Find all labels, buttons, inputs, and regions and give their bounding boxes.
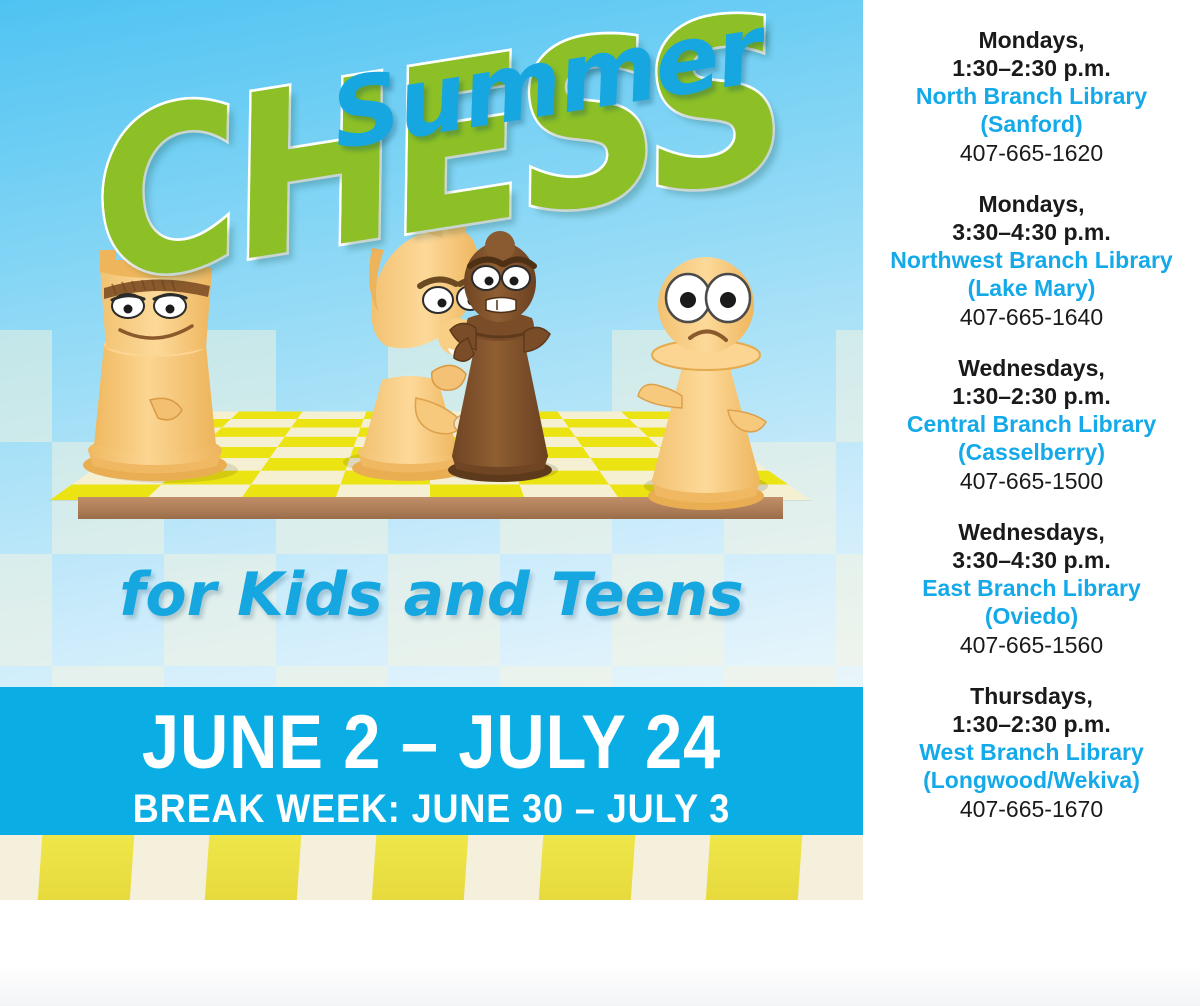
chessboard-square: [515, 471, 609, 485]
chessboard-square: [354, 437, 430, 447]
schedule-city: (Casselberry): [863, 438, 1200, 466]
schedule-entry: Mondays,3:30–4:30 p.m.Northwest Branch L…: [863, 190, 1200, 332]
schedule-city: (Sanford): [863, 110, 1200, 138]
strip-square: [204, 835, 301, 900]
chessboard-square: [189, 447, 277, 458]
schedule-time: 1:30–2:30 p.m.: [863, 54, 1200, 82]
chessboard-square: [659, 447, 751, 458]
chessboard-square: [499, 427, 575, 436]
chessboard-square: [621, 411, 696, 419]
chessboard-square: [212, 427, 291, 436]
schedule-city: (Longwood/Wekiva): [863, 766, 1200, 794]
chessboard-square: [569, 427, 648, 436]
schedule-entry: Wednesdays,3:30–4:30 p.m.East Branch Lib…: [863, 518, 1200, 660]
chessboard-square: [72, 471, 176, 485]
chessboard-square: [430, 437, 506, 447]
schedule-day: Mondays,: [863, 26, 1200, 54]
chessboard-square: [430, 427, 503, 436]
chessboard-square: [503, 437, 583, 447]
schedule-entry: Wednesdays,1:30–2:30 p.m.Central Branch …: [863, 354, 1200, 496]
schedule-library[interactable]: West Branch Library: [863, 738, 1200, 766]
chessboard-square: [350, 447, 430, 458]
schedule-phone[interactable]: 407-665-1500: [863, 466, 1200, 496]
chessboard-square: [201, 437, 284, 447]
schedule-library[interactable]: North Branch Library: [863, 82, 1200, 110]
chessboard-square: [165, 411, 240, 419]
strip-square: [538, 835, 635, 900]
schedule-entry: Thursdays,1:30–2:30 p.m.West Branch Libr…: [863, 682, 1200, 824]
date-range-primary: JUNE 2 – JULY 24: [52, 687, 811, 787]
chessboard-square: [430, 471, 519, 485]
chessboard-square: [575, 437, 658, 447]
chessboard-square: [278, 437, 358, 447]
chessboard-square: [162, 471, 261, 485]
chessboard-square: [648, 437, 735, 447]
schedule-time: 1:30–2:30 p.m.: [863, 710, 1200, 738]
schedule-sidebar: Mondays,1:30–2:30 p.m.North Branch Libra…: [863, 0, 1200, 900]
schedule-time: 3:30–4:30 p.m.: [863, 218, 1200, 246]
schedule-city: (Oviedo): [863, 602, 1200, 630]
schedule-phone[interactable]: 407-665-1640: [863, 302, 1200, 332]
chessboard-square: [222, 419, 297, 427]
chessboard-square: [430, 411, 496, 419]
poster-artwork-panel: CHESS CHESS Summer for Kids and Teens JU…: [0, 0, 863, 900]
chessboard-grid: [50, 411, 810, 500]
chessboard-square: [629, 419, 707, 427]
chessboard-square: [125, 437, 212, 447]
chessboard-square: [231, 411, 303, 419]
schedule-phone[interactable]: 407-665-1560: [863, 630, 1200, 660]
chessboard-square: [92, 458, 190, 470]
chessboard-square: [357, 427, 430, 436]
chessboard-square: [590, 458, 683, 470]
chessboard-square: [270, 447, 354, 458]
chessboard-square: [684, 471, 788, 485]
chessboard-square: [494, 411, 563, 419]
bottom-checker-strip: [0, 835, 863, 900]
poster-canvas: CHESS CHESS Summer for Kids and Teens JU…: [0, 0, 1200, 1006]
strip-square: [705, 835, 802, 900]
chessboard-square: [430, 419, 499, 427]
schedule-library[interactable]: East Branch Library: [863, 574, 1200, 602]
schedule-day: Wednesdays,: [863, 354, 1200, 382]
chessboard-square: [638, 427, 720, 436]
chessboard-square: [671, 458, 769, 470]
schedule-phone[interactable]: 407-665-1670: [863, 794, 1200, 824]
chessboard-square: [341, 471, 430, 485]
schedule-library[interactable]: Northwest Branch Library: [863, 246, 1200, 274]
schedule-phone[interactable]: 407-665-1620: [863, 138, 1200, 168]
schedule-city: (Lake Mary): [863, 274, 1200, 302]
chessboard-square: [109, 447, 201, 458]
chessboard-square: [176, 458, 269, 470]
strip-square: [371, 835, 468, 900]
schedule-time: 1:30–2:30 p.m.: [863, 382, 1200, 410]
date-range-break-week: BREAK WEEK: JUNE 30 – JULY 3: [43, 787, 820, 831]
chessboard-square: [599, 471, 698, 485]
schedule-day: Thursdays,: [863, 682, 1200, 710]
chessboard-square: [345, 458, 430, 470]
chessboard-square: [430, 458, 515, 470]
schedule-day: Mondays,: [863, 190, 1200, 218]
poster-footer: SEMINOLE COUNTY FLORIDA'S NATURAL CHOICE…: [0, 900, 1200, 1006]
poster-subtitle: for Kids and Teens: [0, 560, 863, 630]
chessboard-square: [140, 427, 222, 436]
chessboard-square: [557, 411, 629, 419]
chessboard-square: [251, 471, 345, 485]
chessboard-square: [261, 458, 350, 470]
schedule-day: Wednesdays,: [863, 518, 1200, 546]
chessboard-square: [361, 419, 430, 427]
chessboard-square: [430, 447, 510, 458]
schedule-library[interactable]: Central Branch Library: [863, 410, 1200, 438]
schedule-entry: Mondays,1:30–2:30 p.m.North Branch Libra…: [863, 26, 1200, 168]
chessboard-square: [510, 458, 599, 470]
chessboard-square: [496, 419, 568, 427]
date-banner: JUNE 2 – JULY 24 BREAK WEEK: JUNE 30 – J…: [0, 687, 863, 835]
chessboard-square: [297, 411, 366, 419]
chessboard-square: [563, 419, 638, 427]
chessboard-square: [364, 411, 430, 419]
strip-square: [37, 835, 134, 900]
chessboard-square: [291, 419, 363, 427]
chessboard-square: [153, 419, 231, 427]
chessboard-square: [582, 447, 670, 458]
chessboard-edge: [78, 497, 783, 519]
schedule-time: 3:30–4:30 p.m.: [863, 546, 1200, 574]
chessboard-square: [506, 447, 590, 458]
chessboard-square: [285, 427, 361, 436]
